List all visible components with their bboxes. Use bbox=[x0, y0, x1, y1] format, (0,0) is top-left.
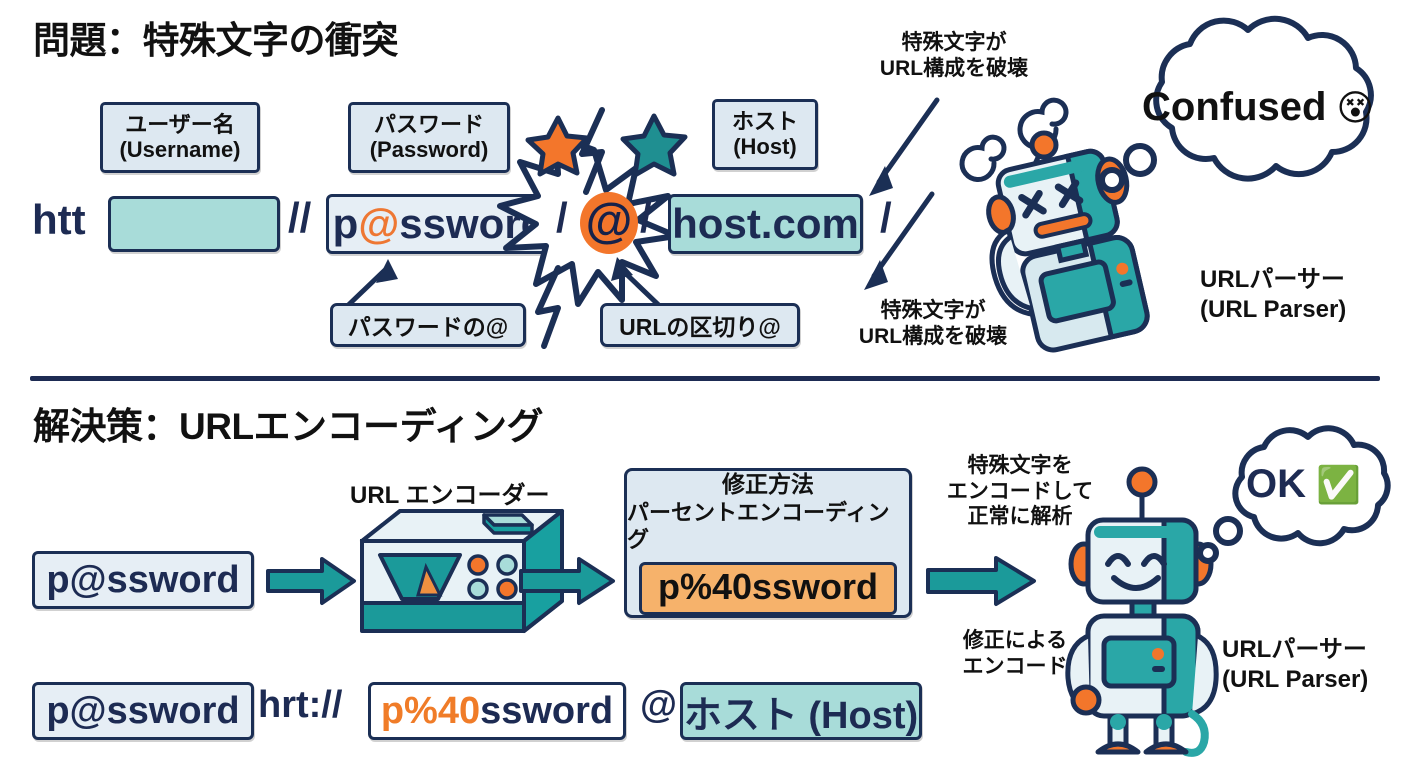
input-text-p: p bbox=[46, 559, 69, 602]
ok-label: OK bbox=[1246, 462, 1306, 507]
arrow-break-bottom-icon bbox=[840, 188, 950, 298]
fix-method-title: 修正方法 bbox=[722, 471, 814, 499]
result-text-p: p bbox=[46, 690, 69, 733]
encoded-suffix: ssword bbox=[480, 690, 613, 733]
encoded-percent-prefix: p%40 bbox=[381, 690, 480, 733]
url-slash-before-at: / bbox=[556, 194, 568, 242]
result-original-field[interactable]: p@ssword bbox=[32, 682, 254, 740]
thought-bubble-ok-text: OK ✅ bbox=[1246, 462, 1361, 507]
encoder-input-field[interactable]: p@ssword bbox=[32, 551, 254, 609]
input-at-symbol: @ bbox=[70, 559, 107, 602]
thought-bubble-confused-text: Confused 😵 bbox=[1142, 85, 1374, 130]
infographic-canvas: 問題：特殊文字の衝突 ユーザー名 (Username) パスワード (Passw… bbox=[0, 0, 1408, 768]
fix-encoded-value: p%40ssword bbox=[639, 562, 897, 616]
label-password-ja: パスワード bbox=[374, 113, 484, 138]
url-username-field[interactable] bbox=[108, 196, 280, 252]
fix-method-box: 修正方法 パーセントエンコーディング p%40ssword bbox=[624, 468, 912, 618]
arrow-to-encoder-icon bbox=[266, 557, 356, 605]
section-title-problem: 問題：特殊文字の衝突 bbox=[33, 22, 398, 59]
caption-url-parser-confused: URLパーサー (URL Parser) bbox=[1200, 265, 1346, 325]
section-title-solution: 解決策：URLエンコーディング bbox=[33, 408, 543, 445]
annotation-break-top: 特殊文字が URL構成を破壊 bbox=[854, 30, 1054, 81]
url-separator-slashes: // bbox=[288, 194, 311, 242]
arrow-break-top-icon bbox=[845, 92, 955, 202]
collision-at-char: @ bbox=[586, 198, 633, 246]
label-host-ja: ホスト bbox=[732, 110, 798, 135]
url-host-field[interactable]: host.com bbox=[668, 194, 863, 254]
callout-password-at: パスワードの@ bbox=[330, 303, 526, 347]
section-divider bbox=[30, 376, 1380, 381]
arrow-to-fixbox-icon bbox=[519, 557, 615, 605]
label-box-username: ユーザー名 (Username) bbox=[100, 102, 260, 173]
input-text-ssword: ssword bbox=[107, 559, 240, 602]
label-username-ja: ユーザー名 bbox=[125, 113, 235, 138]
url-scheme-prefix: htt bbox=[32, 196, 86, 244]
label-host-en: (Host) bbox=[733, 135, 797, 160]
collision-at-badge: @ bbox=[580, 192, 638, 254]
password-at-symbol: @ bbox=[358, 200, 399, 248]
fix-method-subtitle: パーセントエンコーディング bbox=[627, 500, 909, 553]
check-mark-emoji: ✅ bbox=[1316, 464, 1361, 506]
result-scheme-text: hrt:// bbox=[258, 684, 342, 727]
result-text-ssword: ssword bbox=[107, 690, 240, 733]
label-box-host: ホスト (Host) bbox=[712, 99, 818, 170]
result-at-separator: @ bbox=[640, 684, 677, 727]
label-username-en: (Username) bbox=[119, 138, 240, 163]
result-host-field[interactable]: ホスト (Host) bbox=[680, 682, 922, 740]
callout-url-delimiter-at: URLの区切り@ bbox=[600, 303, 800, 347]
dizzy-face-emoji: 😵 bbox=[1336, 87, 1374, 129]
label-password-en: (Password) bbox=[370, 138, 489, 163]
result-at-symbol: @ bbox=[70, 690, 107, 733]
result-encoded-field[interactable]: p%40ssword bbox=[368, 682, 626, 740]
caption-url-parser-happy: URLパーサー (URL Parser) bbox=[1222, 635, 1368, 695]
url-slash-after-at: / bbox=[640, 194, 652, 242]
arrow-to-robot-icon bbox=[926, 556, 1036, 606]
password-text-p: p bbox=[333, 200, 359, 248]
confused-label: Confused bbox=[1142, 85, 1326, 130]
